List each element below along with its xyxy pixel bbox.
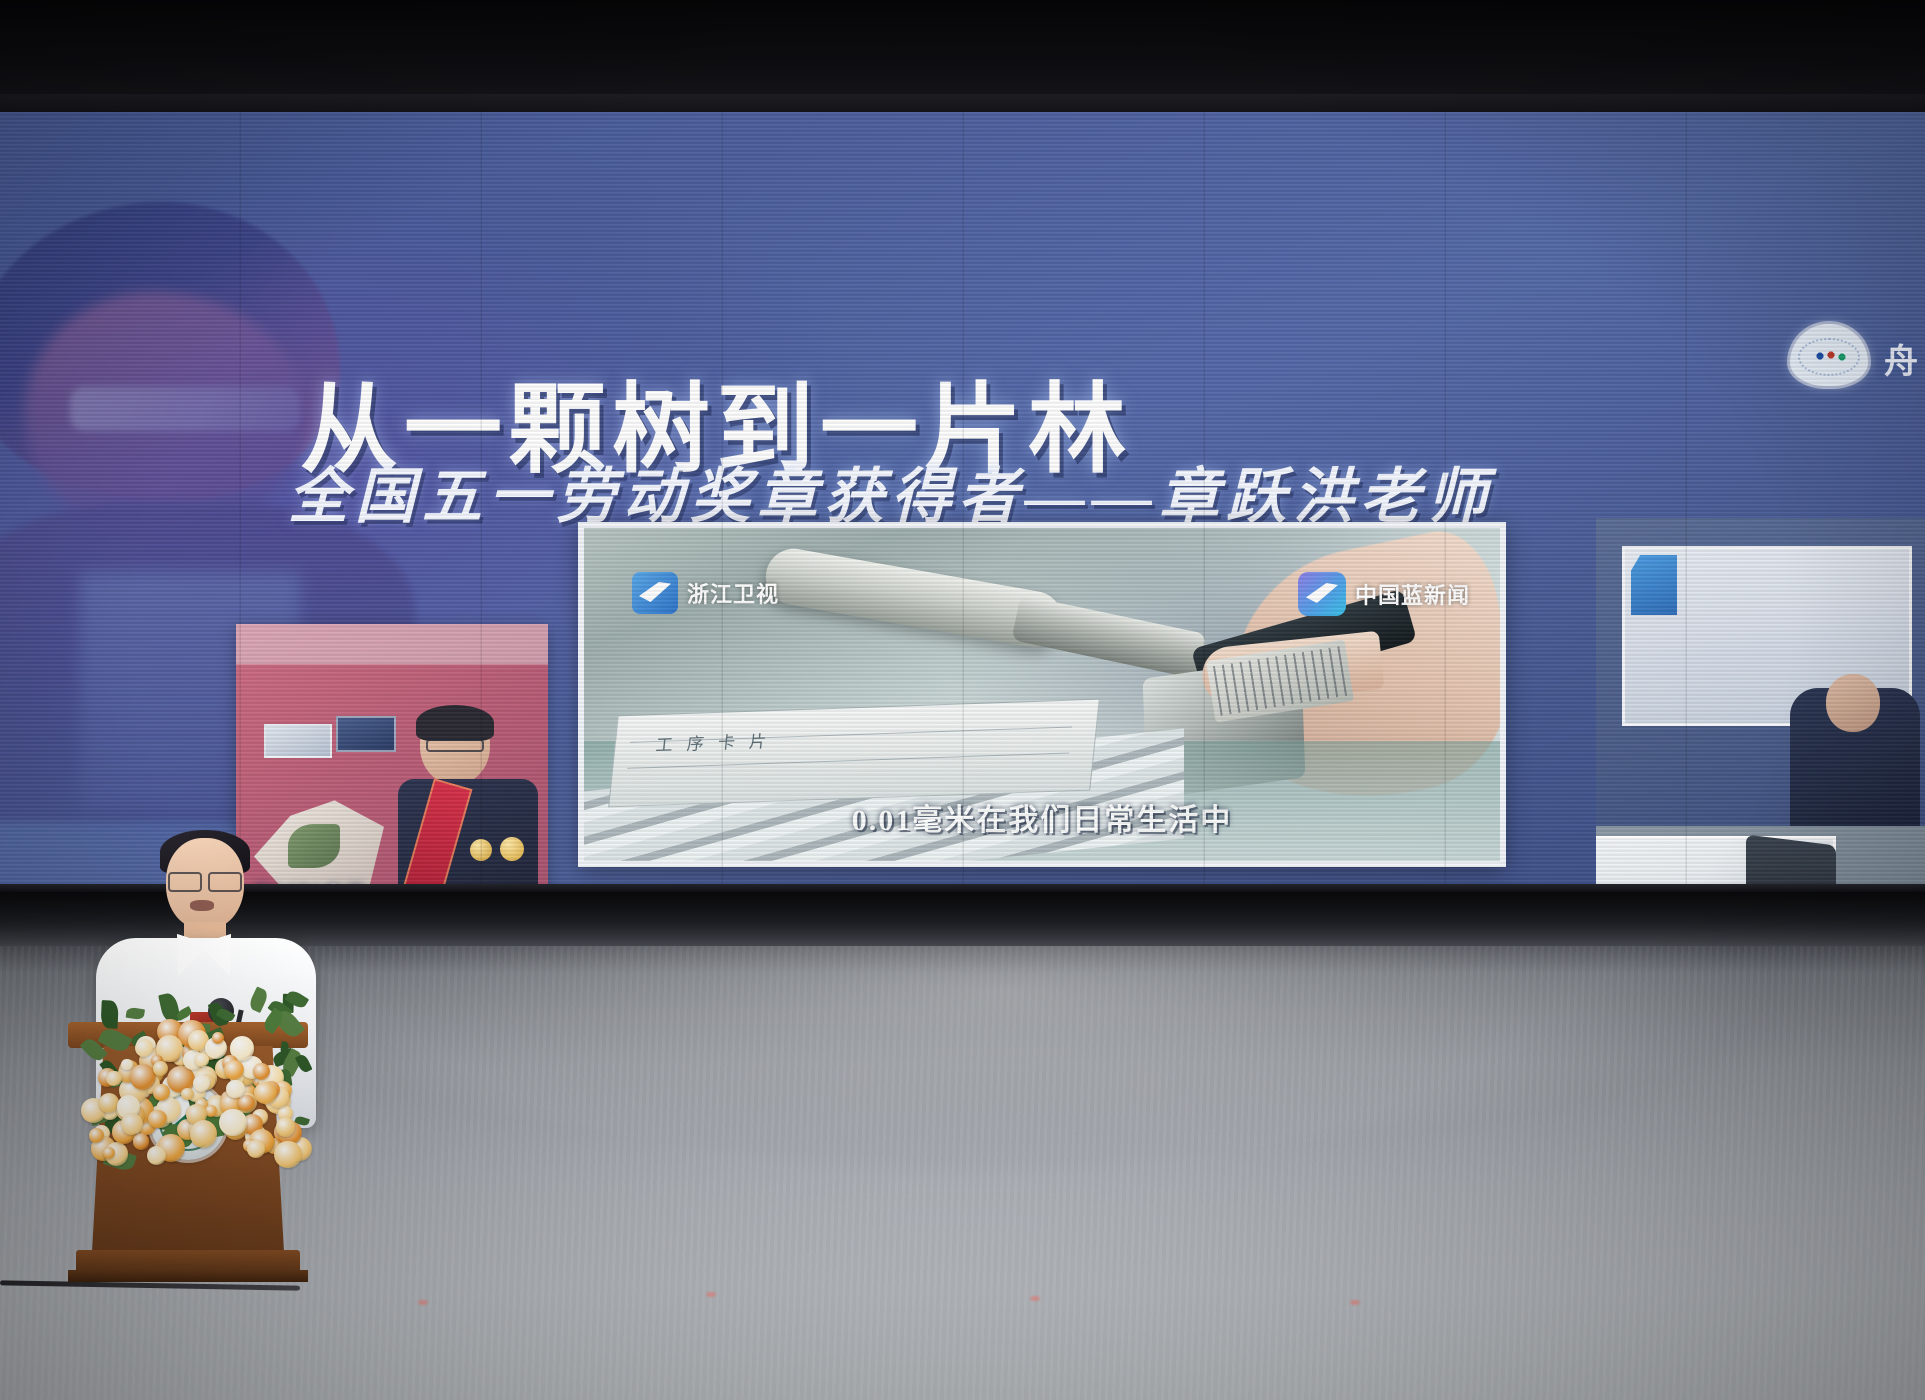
news-logo-label: 中国蓝新闻 [1355,578,1470,610]
flower-blossom [106,1071,121,1086]
flower-leaf [176,1006,193,1021]
glasses-icon [426,739,484,752]
flower-blossom [274,1141,302,1169]
flower-blossom [181,1088,194,1101]
flower-blossom [121,1059,133,1071]
flower-blossom [247,1140,264,1157]
organization-cloud-icon [1790,324,1868,386]
video-still-image: 工序卡片 浙江卫视 中国蓝新闻 0.01毫米在我们日常生活中 [584,528,1500,861]
tv-logo-label: 浙江卫视 [687,577,779,609]
portrait-glasses-shape [70,387,300,431]
award-photo-display-right [336,716,396,752]
flower-blossom [212,1032,224,1044]
document-label: 工序卡片 [655,727,782,756]
technician-head [1826,674,1880,732]
workshop-photo-top [1596,518,1925,828]
floor-marker-3 [1030,1296,1040,1301]
china-blue-news-logo: 中国蓝新闻 [1298,572,1470,616]
flower-blossom [219,1109,247,1137]
speaker-mouth [190,900,214,911]
led-presentation-screen: 从一颗树到一片林 全国五一劳动奖章获得者——章跃洪老师 FUNCT [0,112,1925,892]
flower-blossom [135,1039,153,1057]
floor-marker-1 [418,1300,428,1305]
news-logo-icon [1298,572,1346,616]
stage-scene: 从一颗树到一片林 全国五一劳动奖章获得者——章跃洪老师 FUNCT [0,0,1925,1400]
document-rule-2 [627,752,1069,768]
medal-icon-2 [470,839,492,861]
zhejiang-tv-logo: 浙江卫视 [632,572,779,614]
flower-blossom [195,1053,209,1067]
flower-blossom [133,1133,150,1150]
workshop-photo-bottom [1596,826,1925,892]
video-caption: 0.01毫米在我们日常生活中 [584,795,1500,839]
flower-leaf [125,1006,145,1020]
flower-blossom [238,1095,254,1111]
flower-blossom [224,1060,244,1080]
flower-blossom [190,1120,218,1148]
speaker-glasses-icon [168,872,242,888]
tv-logo-icon [632,572,678,614]
award-recipient-figure [392,709,542,892]
podium-plinth [68,1270,308,1282]
flower-leaf [101,1000,119,1028]
flower-blossom [153,1084,169,1100]
floor-marker-4 [1350,1300,1360,1305]
floor-marker-2 [706,1292,716,1297]
panel-icon-blue [1631,555,1677,615]
flower-blossom [153,1061,168,1076]
channel-bug-row: 浙江卫视 中国蓝新闻 [584,572,1500,612]
flower-blossom [226,1080,244,1098]
process-card-document: 工序卡片 [608,699,1100,808]
medal-icon-1 [500,837,524,861]
news-video-frame: 工序卡片 浙江卫视 中国蓝新闻 0.01毫米在我们日常生活中 [578,522,1506,867]
flower-blossom [254,1082,276,1104]
flower-blossom [276,1117,295,1136]
cloud-color-dots [1814,350,1848,362]
flower-blossom [148,1110,166,1128]
flower-arrangement [78,992,308,1162]
organization-name: 舟 [1884,334,1918,383]
recipient-hair [416,705,494,741]
flower-blossom [147,1146,166,1165]
award-photo-display-left [264,724,332,758]
